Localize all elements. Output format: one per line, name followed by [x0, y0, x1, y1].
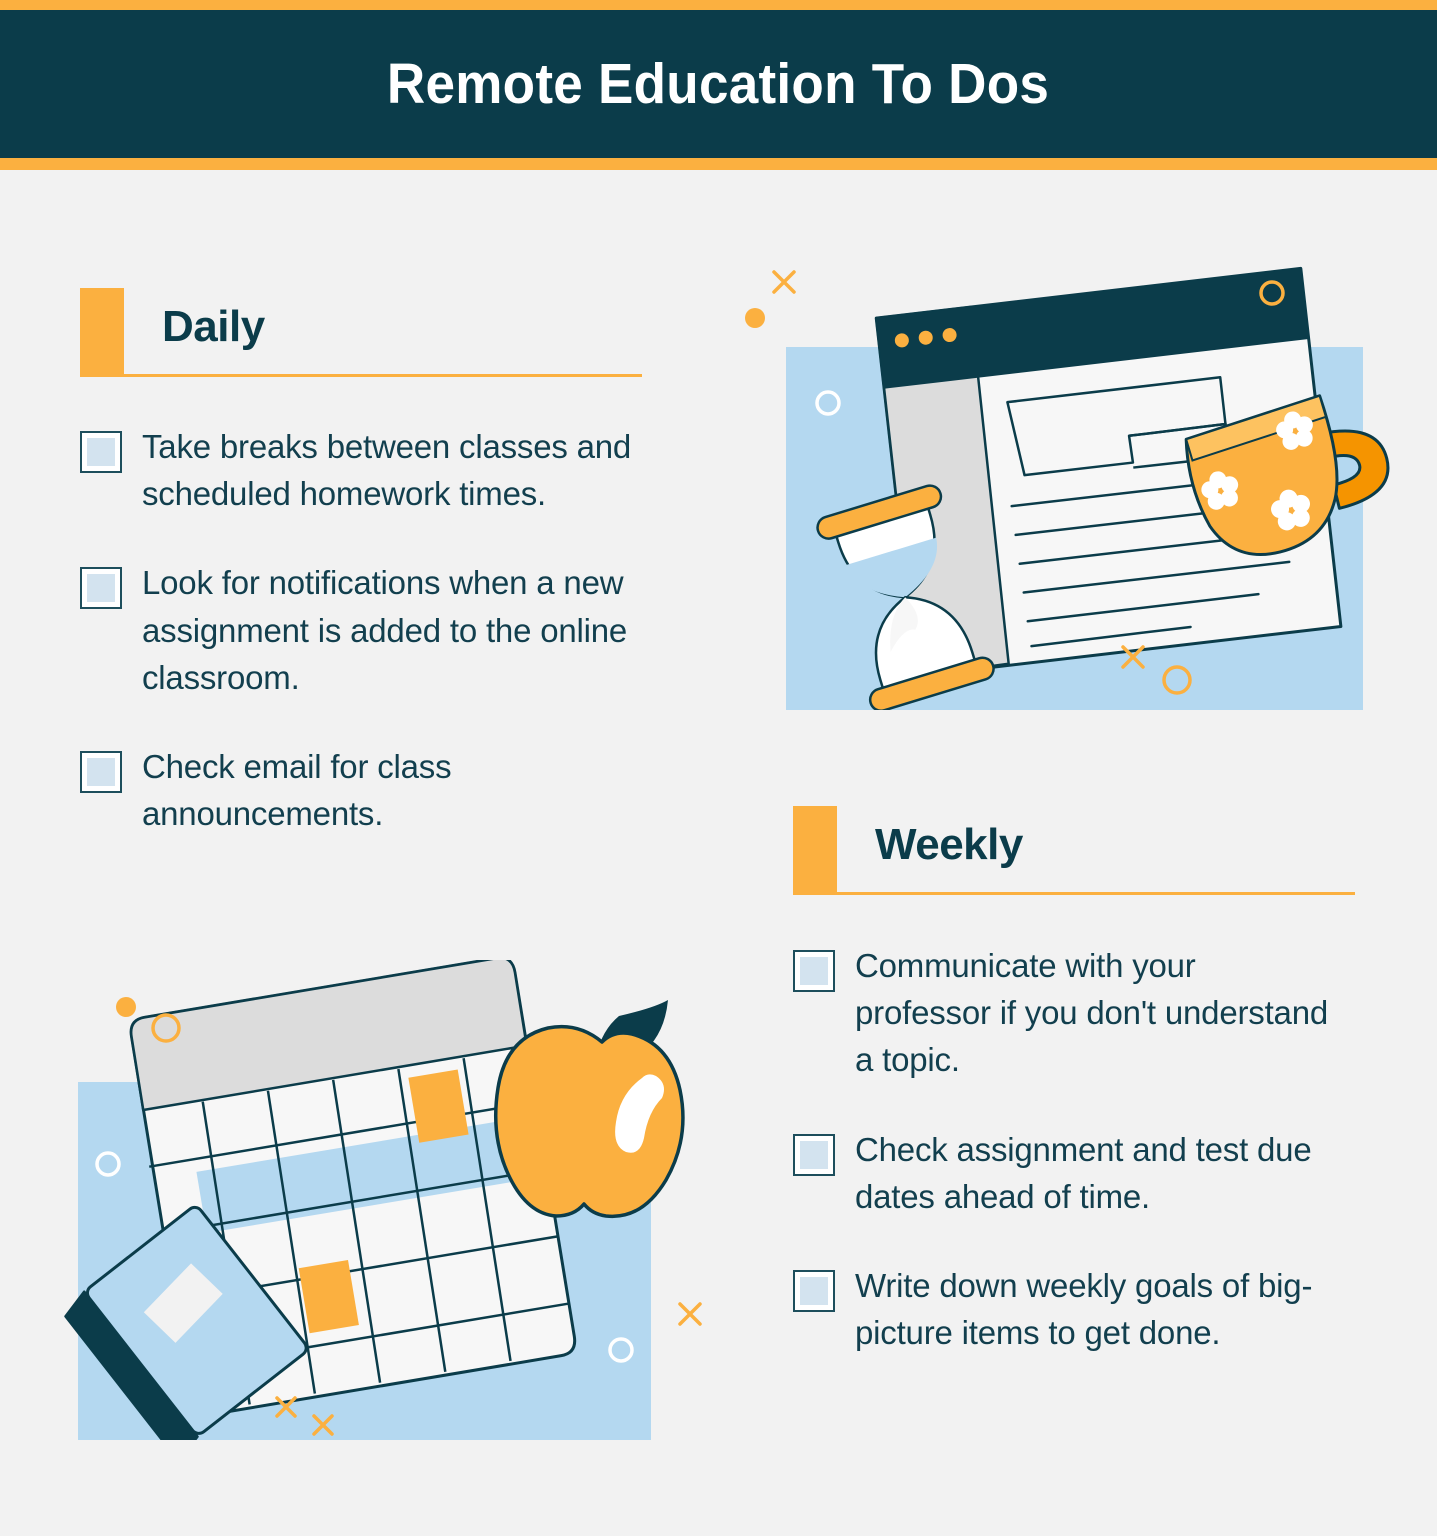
section-underline	[80, 374, 642, 377]
checkbox-icon[interactable]	[793, 1270, 835, 1312]
section-accent-bar	[80, 288, 124, 374]
checkbox-fill	[800, 957, 828, 985]
checkbox-icon[interactable]	[80, 751, 122, 793]
section-accent-bar	[793, 806, 837, 892]
orange-dot	[116, 997, 136, 1017]
browser-window-hourglass-coffee-illustration	[740, 250, 1400, 710]
list-item-label: Check assignment and test due dates ahea…	[855, 1126, 1335, 1220]
list-item[interactable]: Take breaks between classes and schedule…	[80, 423, 642, 517]
checkbox-fill	[87, 758, 115, 786]
list-item-label: Look for notifications when a new assign…	[142, 559, 642, 701]
checklist-weekly: Communicate with your professor if you d…	[793, 942, 1335, 1398]
orange-dot	[745, 308, 765, 328]
header-band: Remote Education To Dos	[0, 10, 1437, 158]
list-item[interactable]: Check assignment and test due dates ahea…	[793, 1126, 1335, 1220]
checkbox-icon[interactable]	[80, 567, 122, 609]
checkbox-fill	[800, 1277, 828, 1305]
section-underline	[793, 892, 1355, 895]
checklist-daily: Take breaks between classes and schedule…	[80, 423, 642, 879]
page-title: Remote Education To Dos	[387, 51, 1049, 117]
list-item[interactable]: Check email for class announcements.	[80, 743, 642, 837]
list-item[interactable]: Write down weekly goals of big-picture i…	[793, 1262, 1335, 1356]
checkbox-fill	[87, 438, 115, 466]
list-item-label: Communicate with your professor if you d…	[855, 942, 1335, 1084]
infographic-page: Remote Education To Dos Daily Take break…	[0, 0, 1437, 1536]
list-item-label: Take breaks between classes and schedule…	[142, 423, 642, 517]
checkbox-fill	[800, 1141, 828, 1169]
section-title-daily: Daily	[162, 302, 265, 352]
checkbox-icon[interactable]	[793, 1134, 835, 1176]
header-top-stripe	[0, 0, 1437, 10]
list-item-label: Write down weekly goals of big-picture i…	[855, 1262, 1335, 1356]
list-item[interactable]: Look for notifications when a new assign…	[80, 559, 642, 701]
checkbox-fill	[87, 574, 115, 602]
section-title-weekly: Weekly	[875, 820, 1023, 870]
checkbox-icon[interactable]	[793, 950, 835, 992]
header-bottom-stripe	[0, 158, 1437, 170]
apple-body	[496, 1027, 683, 1217]
calendar-apple-book-illustration	[40, 960, 720, 1440]
checkbox-icon[interactable]	[80, 431, 122, 473]
list-item[interactable]: Communicate with your professor if you d…	[793, 942, 1335, 1084]
list-item-label: Check email for class announcements.	[142, 743, 642, 837]
